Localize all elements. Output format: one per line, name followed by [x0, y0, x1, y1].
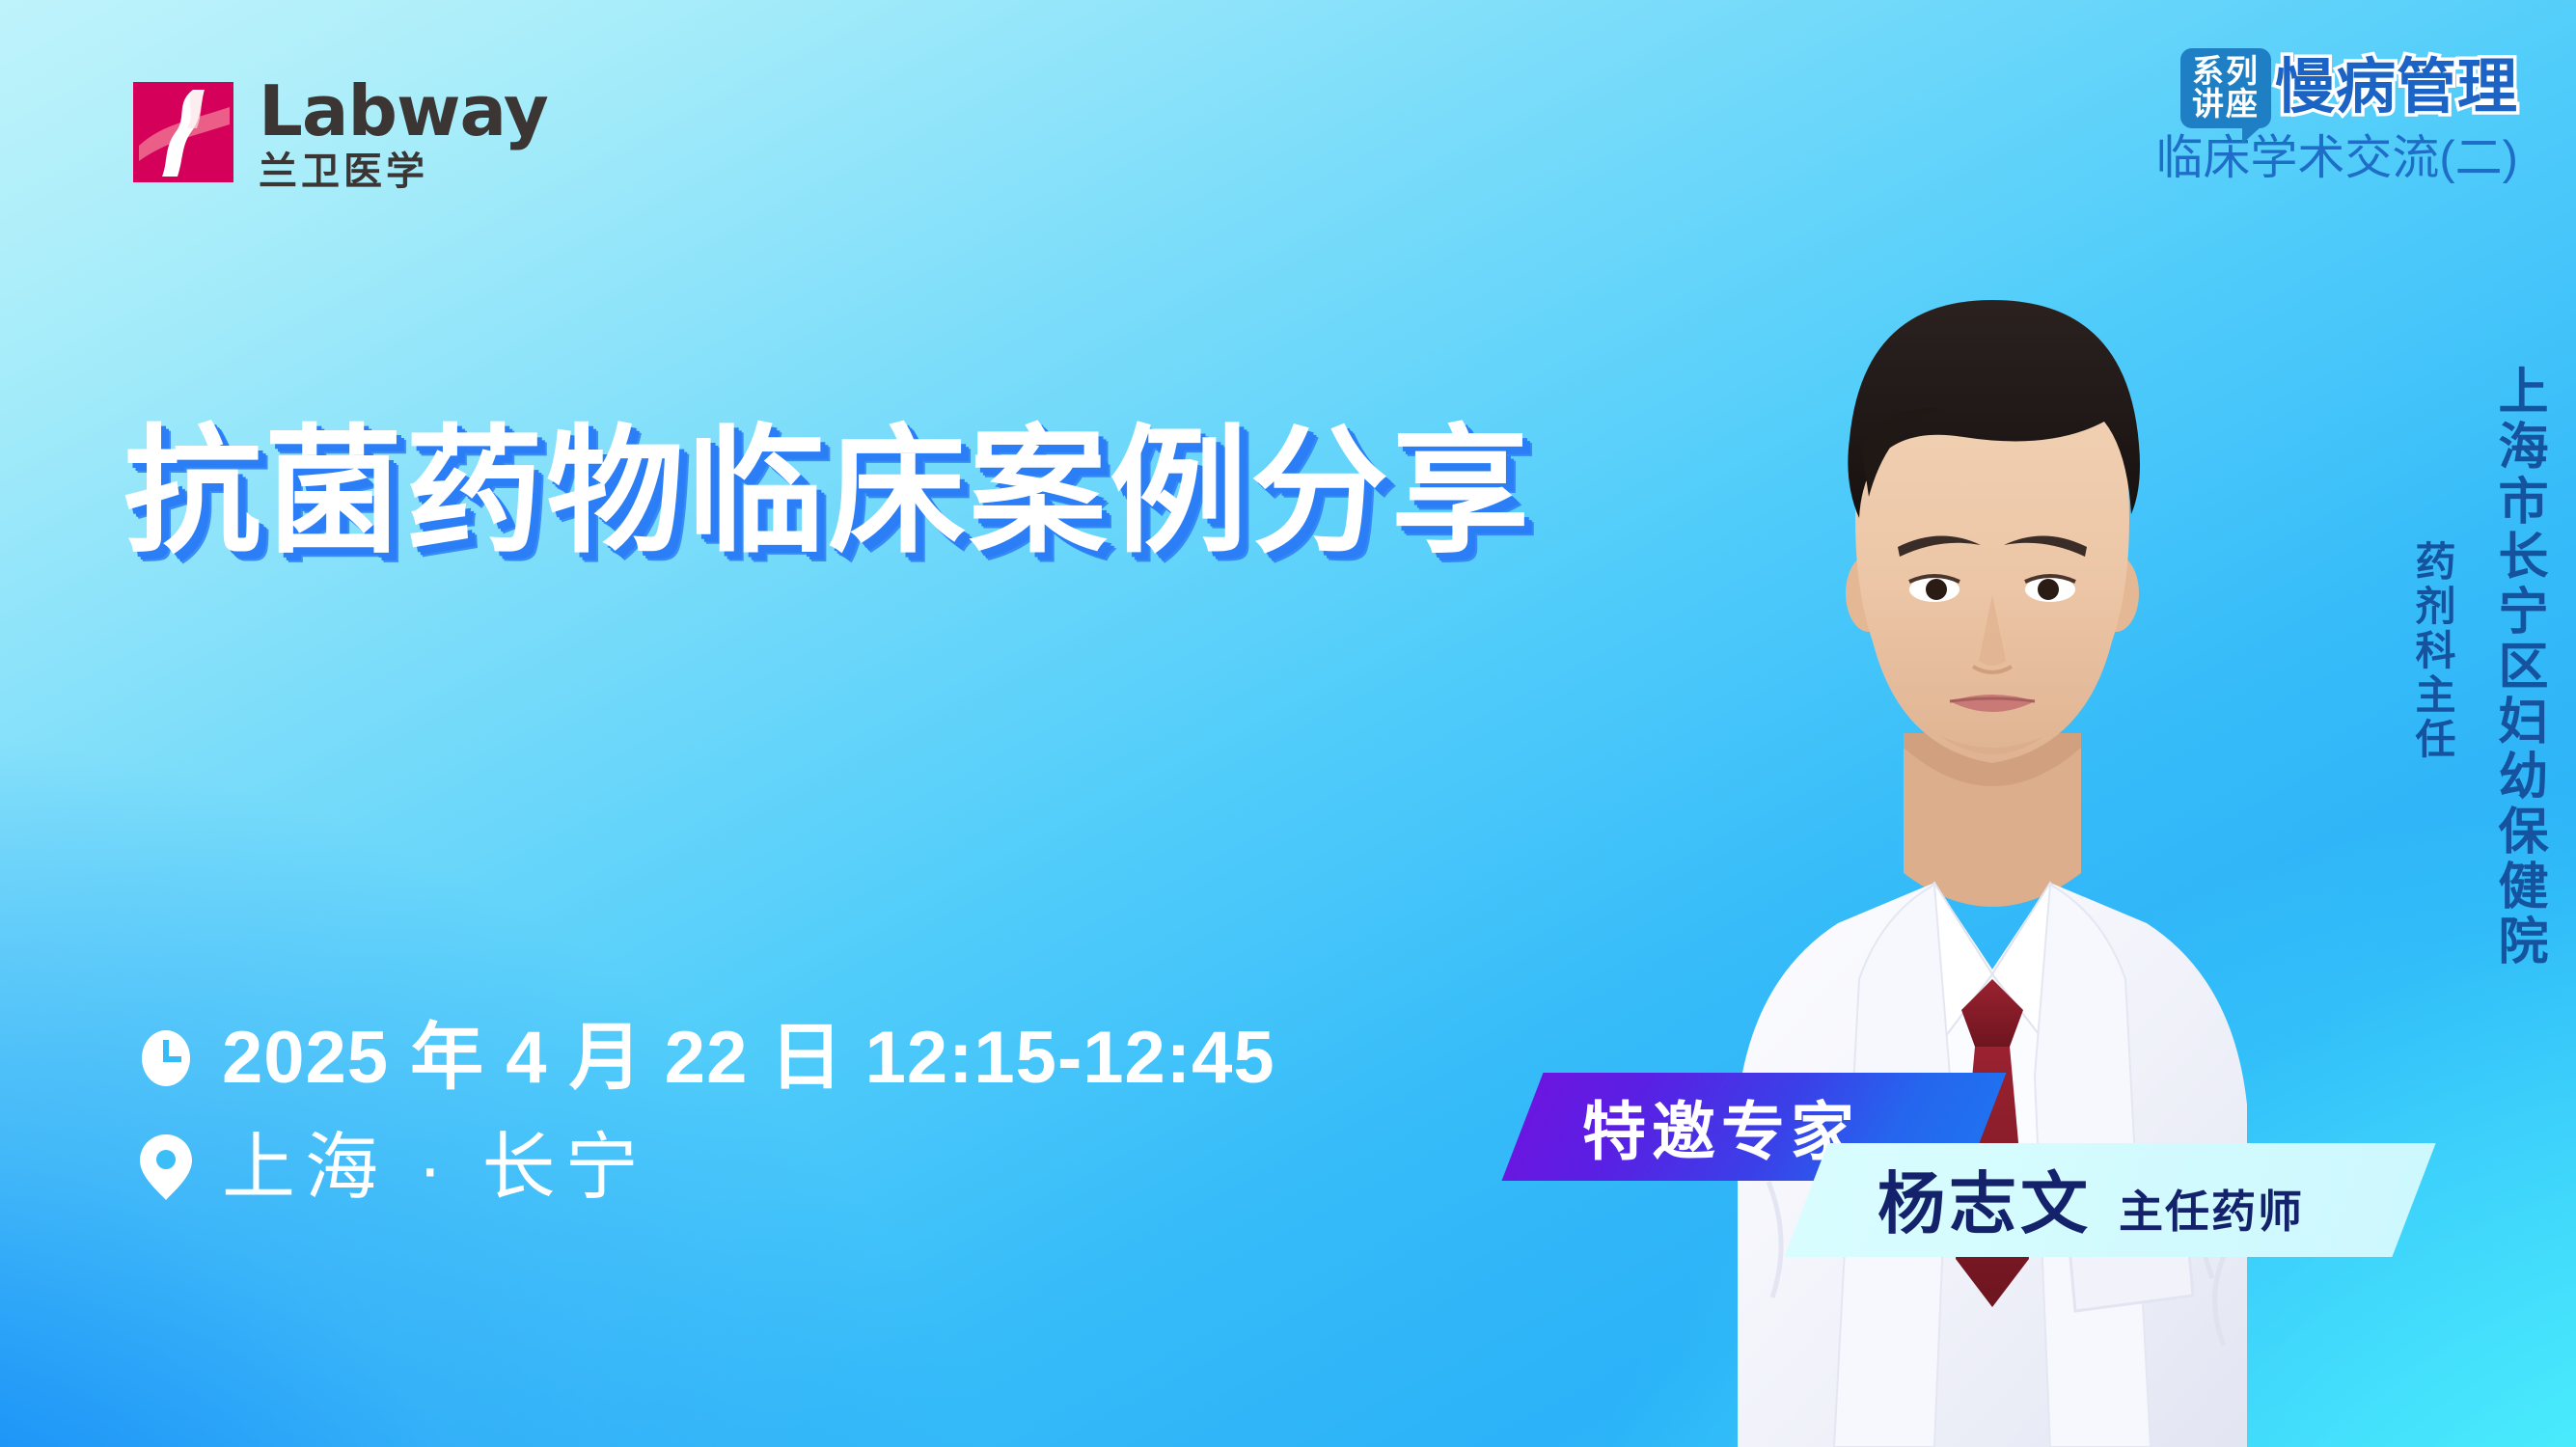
series-tag-line-1: 系列 — [2192, 55, 2260, 88]
series-badge-row: 系列 讲座 慢病管理 — [2155, 48, 2518, 128]
series-badge: 系列 讲座 慢病管理 临床学术交流(二) — [2155, 48, 2518, 183]
series-tag: 系列 讲座 — [2180, 48, 2271, 128]
series-badge-topic: 慢病管理 — [2275, 58, 2518, 118]
event-datetime-row: 2025 年 4 月 22 日 12:15-12:45 — [135, 1018, 1275, 1099]
brand-logo: Labway 兰卫医学 — [133, 82, 548, 192]
speaker-name-banner: 杨志文 主任药师 — [1877, 1150, 2418, 1250]
brand-wordmark: Labway — [259, 76, 548, 146]
event-location-row: 上海 · 长宁 — [135, 1128, 1275, 1209]
speaker-title: 主任药师 — [2119, 1177, 2304, 1241]
event-location-text: 上海 · 长宁 — [222, 1128, 648, 1209]
clock-icon — [135, 1028, 197, 1088]
series-badge-subtitle: 临床学术交流(二) — [2155, 134, 2518, 183]
page-title: 抗菌药物临床案例分享 — [123, 417, 1532, 568]
series-tag-line-2: 讲座 — [2192, 88, 2260, 121]
doctor-portrait-photo — [1645, 207, 2340, 1447]
event-info: 2025 年 4 月 22 日 12:15-12:45 上海 · 长宁 — [135, 1018, 1275, 1208]
brand-logo-text: Labway 兰卫医学 — [259, 76, 548, 192]
speaker-name: 杨志文 — [1877, 1150, 2092, 1247]
speaker-hospital-vertical: 上海市长宁区妇幼保健院 — [2493, 365, 2543, 969]
event-datetime-text: 2025 年 4 月 22 日 12:15-12:45 — [222, 1018, 1275, 1099]
event-poster: Labway 兰卫医学 系列 讲座 慢病管理 临床学术交流(二) 抗菌药物临床案… — [0, 0, 2576, 1447]
labway-ribbon-logo-icon — [133, 82, 233, 182]
speaker-role-vertical: 药剂科主任 — [2412, 540, 2453, 762]
location-pin-icon — [135, 1133, 197, 1202]
brand-sub-name: 兰卫医学 — [259, 151, 548, 192]
